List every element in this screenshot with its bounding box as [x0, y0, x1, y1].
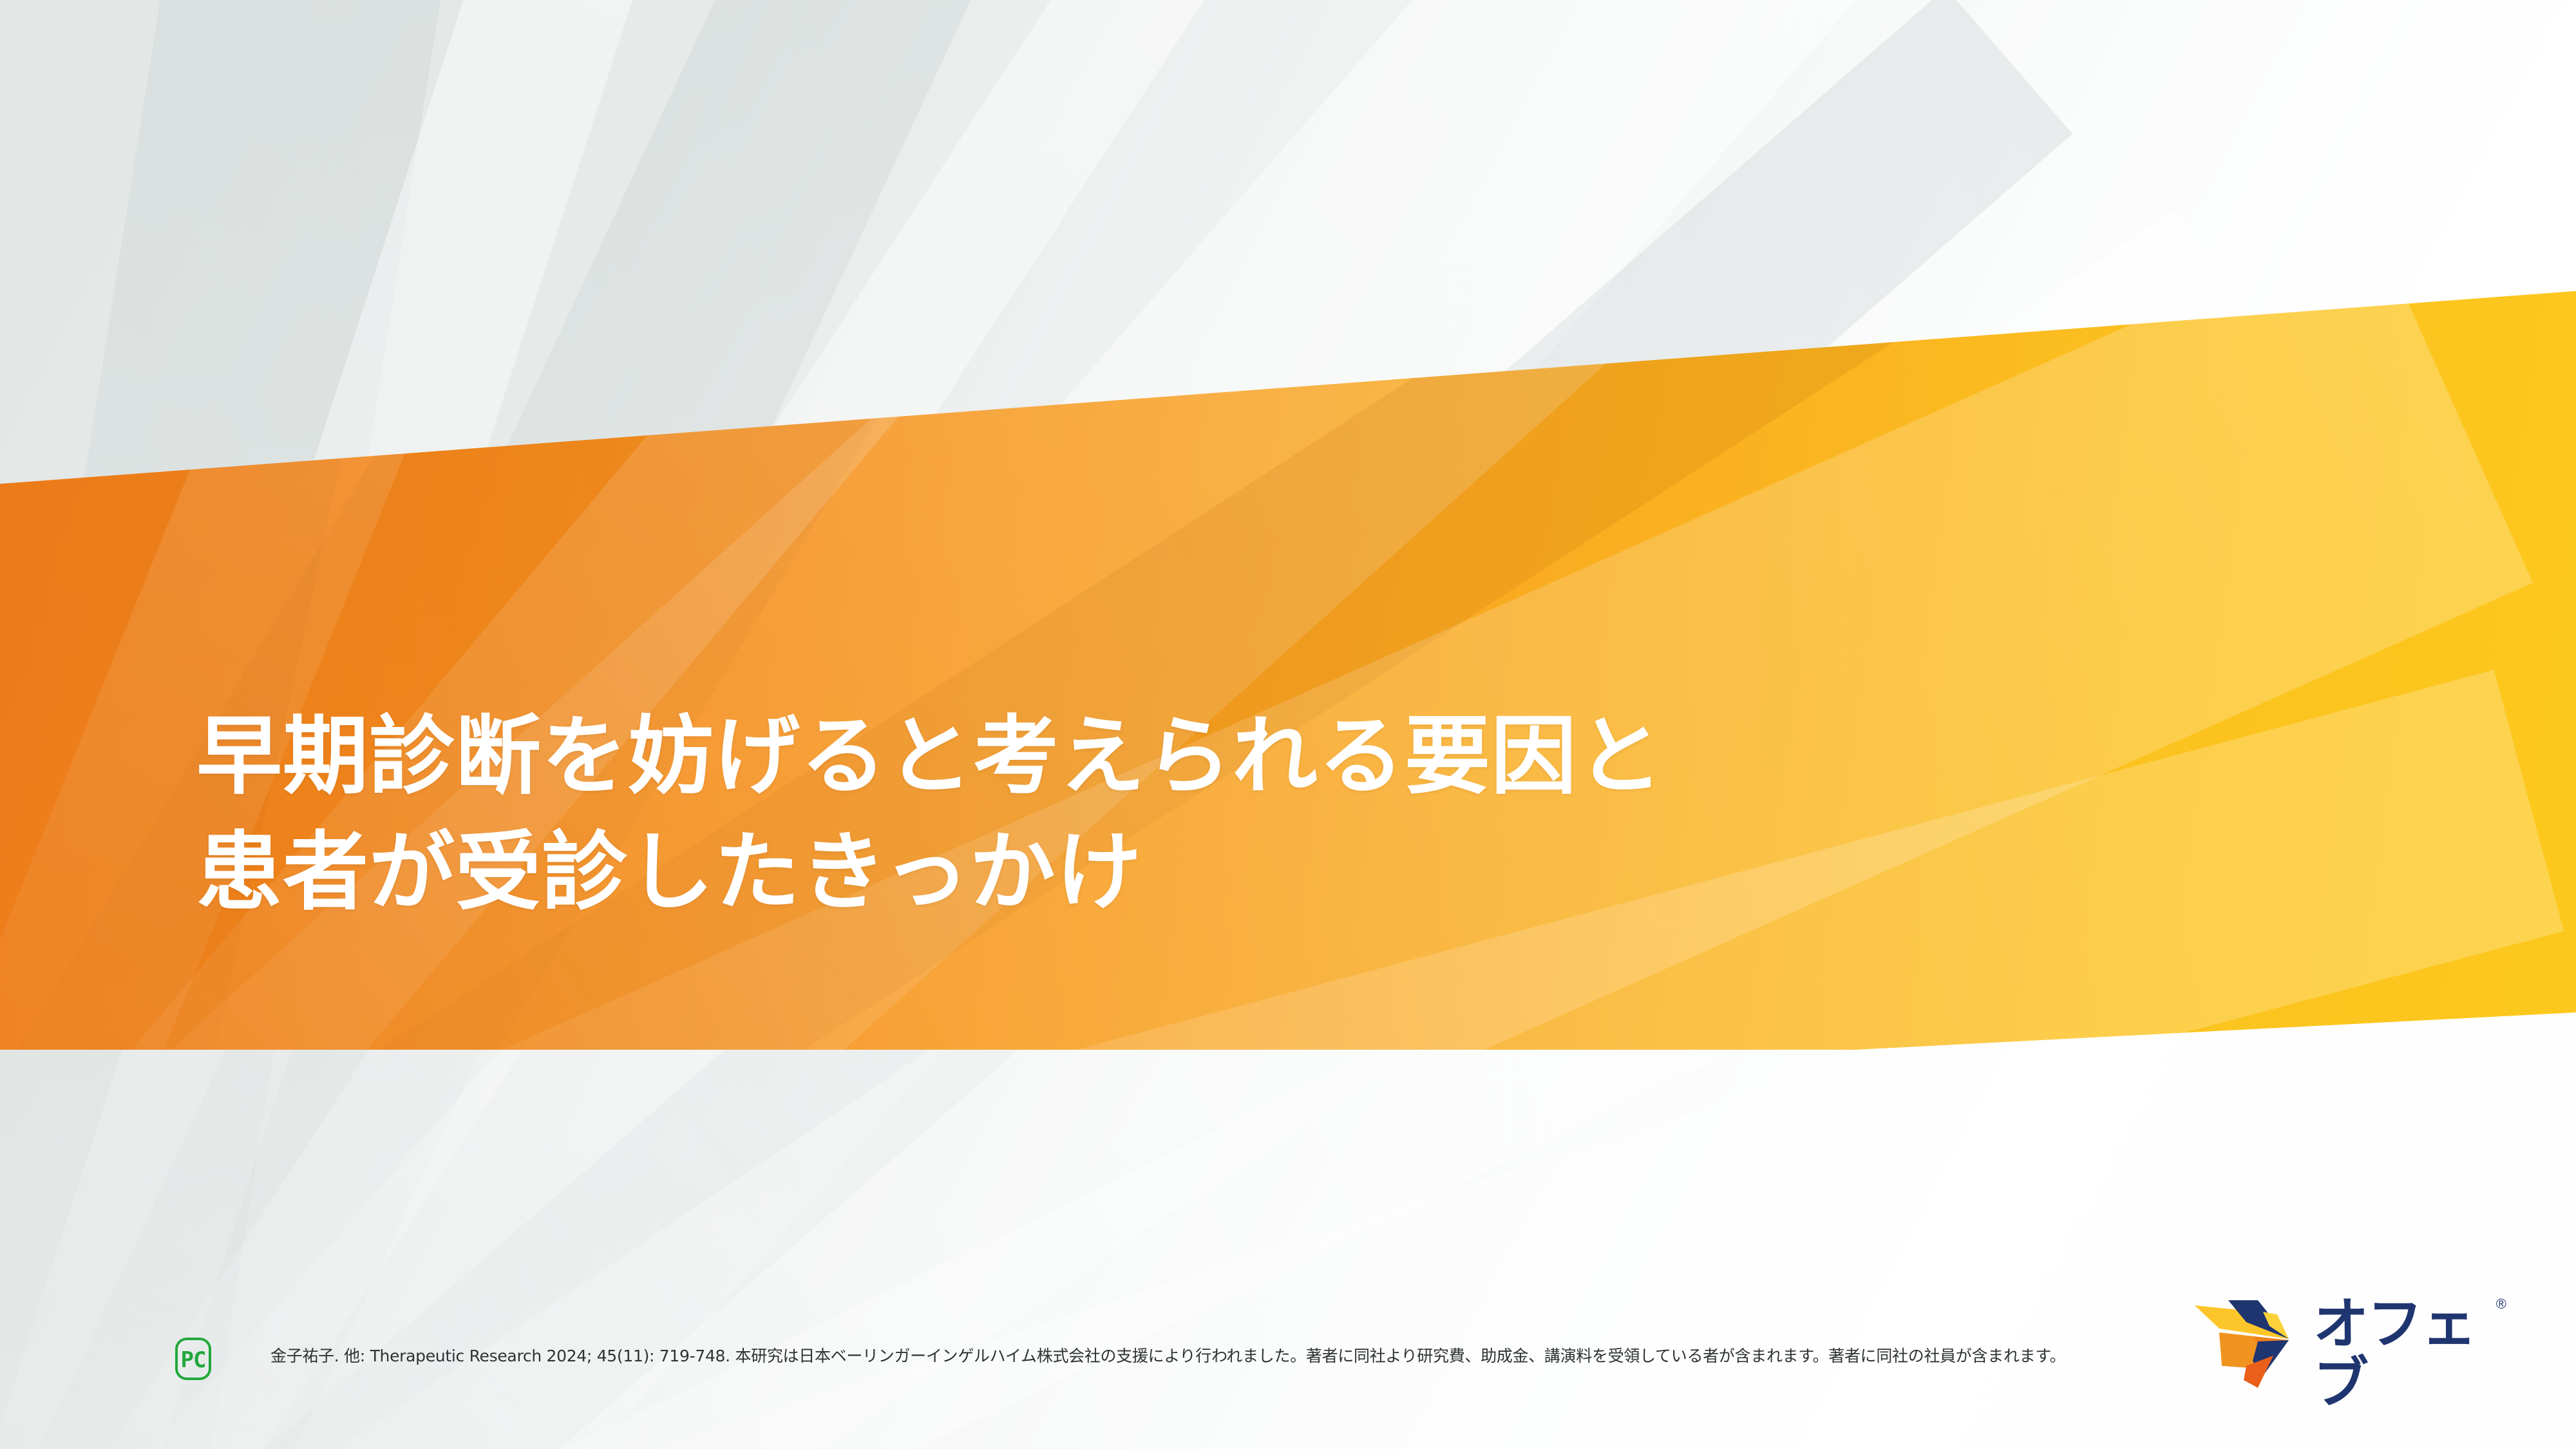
footer: PC 金子祐子. 他: Therapeutic Research 2024; 4…	[0, 1335, 2576, 1393]
ofev-logo-text-wrap: オフェブ ®	[2313, 1285, 2506, 1404]
footnote-citation: 金子祐子. 他: Therapeutic Research 2024; 45(1…	[270, 1345, 2065, 1367]
ofev-logo: オフェブ ®	[2191, 1293, 2506, 1396]
registered-trademark-icon: ®	[2496, 1296, 2506, 1312]
slide-root: 早期診断を妨げると考えられる要因と 患者が受診したきっかけ PC 金子祐子. 他…	[0, 0, 2576, 1449]
page-title-line-1: 早期診断を妨げると考えられる要因と	[196, 699, 1871, 815]
page-title-line-2: 患者が受診したきっかけ	[196, 815, 1871, 931]
pc-badge-icon: PC	[175, 1338, 211, 1380]
page-title: 早期診断を妨げると考えられる要因と 患者が受診したきっかけ	[196, 699, 1871, 931]
bird-arrow-icon	[2191, 1296, 2304, 1393]
ofev-logo-text: オフェブ	[2313, 1294, 2494, 1413]
pc-badge-label: PC	[181, 1349, 206, 1371]
